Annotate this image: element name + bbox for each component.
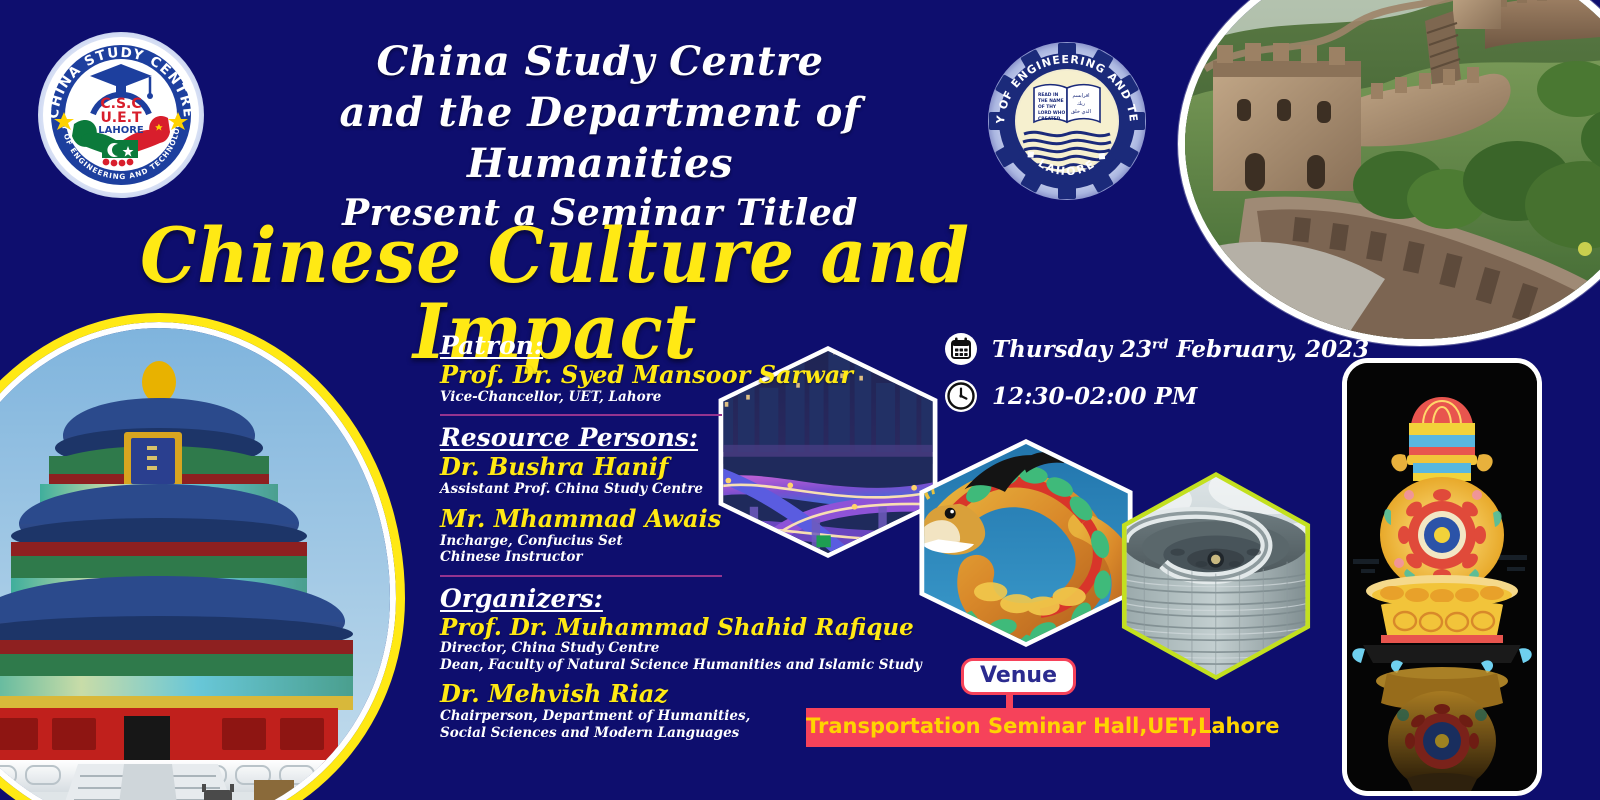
svg-text:OF THY: OF THY bbox=[1038, 104, 1057, 110]
temple-of-heaven-photo bbox=[0, 322, 396, 800]
organizer-name-1: Dr. Mehvish Riaz bbox=[440, 681, 740, 708]
resource-persons-block: Resource Persons: Dr. Bushra Hanif Assis… bbox=[440, 424, 740, 565]
chinese-dragon-sculpture-photo bbox=[915, 439, 1137, 647]
divider-2 bbox=[440, 575, 722, 577]
date-text: Thursday 23rd February, 2023 bbox=[992, 338, 1369, 361]
poster-headline: China Study Centre and the Department of… bbox=[230, 36, 970, 236]
headline-line-1: China Study Centre bbox=[230, 36, 970, 87]
date-suffix: February, 2023 bbox=[1168, 336, 1369, 363]
patron-block: Patron: Prof. Dr. Syed Mansoor Sarwar Vi… bbox=[440, 332, 740, 405]
building-hex-inner bbox=[1123, 477, 1309, 675]
resource-person-title-1-0: Incharge, Confucius Set bbox=[440, 533, 740, 549]
svg-text:READ IN: READ IN bbox=[1038, 92, 1059, 98]
svg-text:اقرابسم: اقرابسم bbox=[1072, 93, 1089, 99]
divider-1 bbox=[440, 414, 722, 416]
dragon-hex-inner bbox=[920, 444, 1132, 642]
organizers-heading: Organizers: bbox=[440, 585, 740, 613]
headline-line-2: and the Department of Humanities bbox=[230, 87, 970, 189]
chinese-dragon-illustration bbox=[920, 444, 1132, 642]
time-row: 12:30-02:00 PM bbox=[944, 379, 1369, 413]
resource-person-title-1-1: Chinese Instructor bbox=[440, 549, 740, 565]
svg-text:CREATED: CREATED bbox=[1038, 116, 1061, 122]
svg-text:U.E.T: U.E.T bbox=[100, 110, 142, 126]
clock-icon bbox=[944, 379, 978, 413]
clock-icon-graphic bbox=[944, 379, 978, 413]
date-row: Thursday 23rd February, 2023 bbox=[944, 332, 1369, 366]
temple-of-heaven-illustration bbox=[0, 328, 390, 800]
svg-text:ربك: ربك bbox=[1077, 101, 1086, 107]
time-text: 12:30-02:00 PM bbox=[992, 385, 1197, 408]
resource-person-name-0: Dr. Bushra Hanif bbox=[440, 454, 740, 481]
svg-text:LAHORE: LAHORE bbox=[98, 125, 144, 136]
organizer-title-0-1: Dean, Faculty of Natural Science Humanit… bbox=[440, 657, 740, 673]
china-study-centre-logo: CHINA STUDY CENTRE UNIVERSITY OF ENGINEE… bbox=[38, 32, 204, 198]
csc-logo-graphic: CHINA STUDY CENTRE UNIVERSITY OF ENGINEE… bbox=[38, 32, 204, 198]
date-prefix: Thursday 23 bbox=[992, 336, 1152, 363]
svg-text:LORD WHO: LORD WHO bbox=[1038, 110, 1065, 116]
resource-person-title-0-0: Assistant Prof. China Study Centre bbox=[440, 481, 740, 497]
svg-text:THE NAME: THE NAME bbox=[1038, 98, 1064, 104]
date-ordinal-suffix: rd bbox=[1152, 336, 1168, 352]
calendar-icon-graphic bbox=[944, 332, 978, 366]
lantern-vase-illustration bbox=[1347, 363, 1537, 791]
resource-person-name-1: Mr. Mhammad Awais bbox=[440, 506, 740, 533]
resource-persons-heading: Resource Persons: bbox=[440, 424, 740, 452]
svg-text:الذي خلق: الذي خلق bbox=[1071, 109, 1091, 115]
venue-location-bar: Transportation Seminar Hall,UET,Lahore bbox=[806, 708, 1210, 747]
great-wall-illustration bbox=[1185, 0, 1600, 339]
modern-circular-building-photo bbox=[1118, 472, 1314, 680]
calendar-icon bbox=[944, 332, 978, 366]
circular-building-illustration bbox=[1123, 477, 1309, 675]
patron-name: Prof. Dr. Syed Mansoor Sarwar bbox=[440, 362, 740, 389]
organizer-title-0-0: Director, China Study Centre bbox=[440, 640, 740, 656]
uet-lahore-logo: READ INTHE NAME OF THYLORD WHOCREATED اق… bbox=[988, 42, 1146, 200]
details-column: Patron: Prof. Dr. Syed Mansoor Sarwar Vi… bbox=[440, 332, 740, 741]
seminar-poster: CHINA STUDY CENTRE UNIVERSITY OF ENGINEE… bbox=[0, 0, 1600, 800]
organizer-name-0: Prof. Dr. Muhammad Shahid Rafique bbox=[440, 615, 740, 641]
uet-logo-graphic: READ INTHE NAME OF THYLORD WHOCREATED اق… bbox=[988, 42, 1146, 200]
patron-heading: Patron: bbox=[440, 332, 740, 360]
organizers-block: Organizers: Prof. Dr. Muhammad Shahid Ra… bbox=[440, 585, 740, 742]
great-wall-of-china-photo bbox=[1178, 0, 1600, 346]
venue-label-badge: Venue bbox=[961, 658, 1076, 695]
illuminated-chinese-lantern-vase-photo bbox=[1342, 358, 1542, 796]
organizer-title-1-1: Social Sciences and Modern Languages bbox=[440, 725, 740, 741]
patron-title-0: Vice-Chancellor, UET, Lahore bbox=[440, 389, 740, 405]
organizer-title-1-0: Chairperson, Department of Humanities, bbox=[440, 708, 740, 724]
schedule-block: Thursday 23rd February, 2023 12:30-02:00… bbox=[944, 332, 1369, 426]
